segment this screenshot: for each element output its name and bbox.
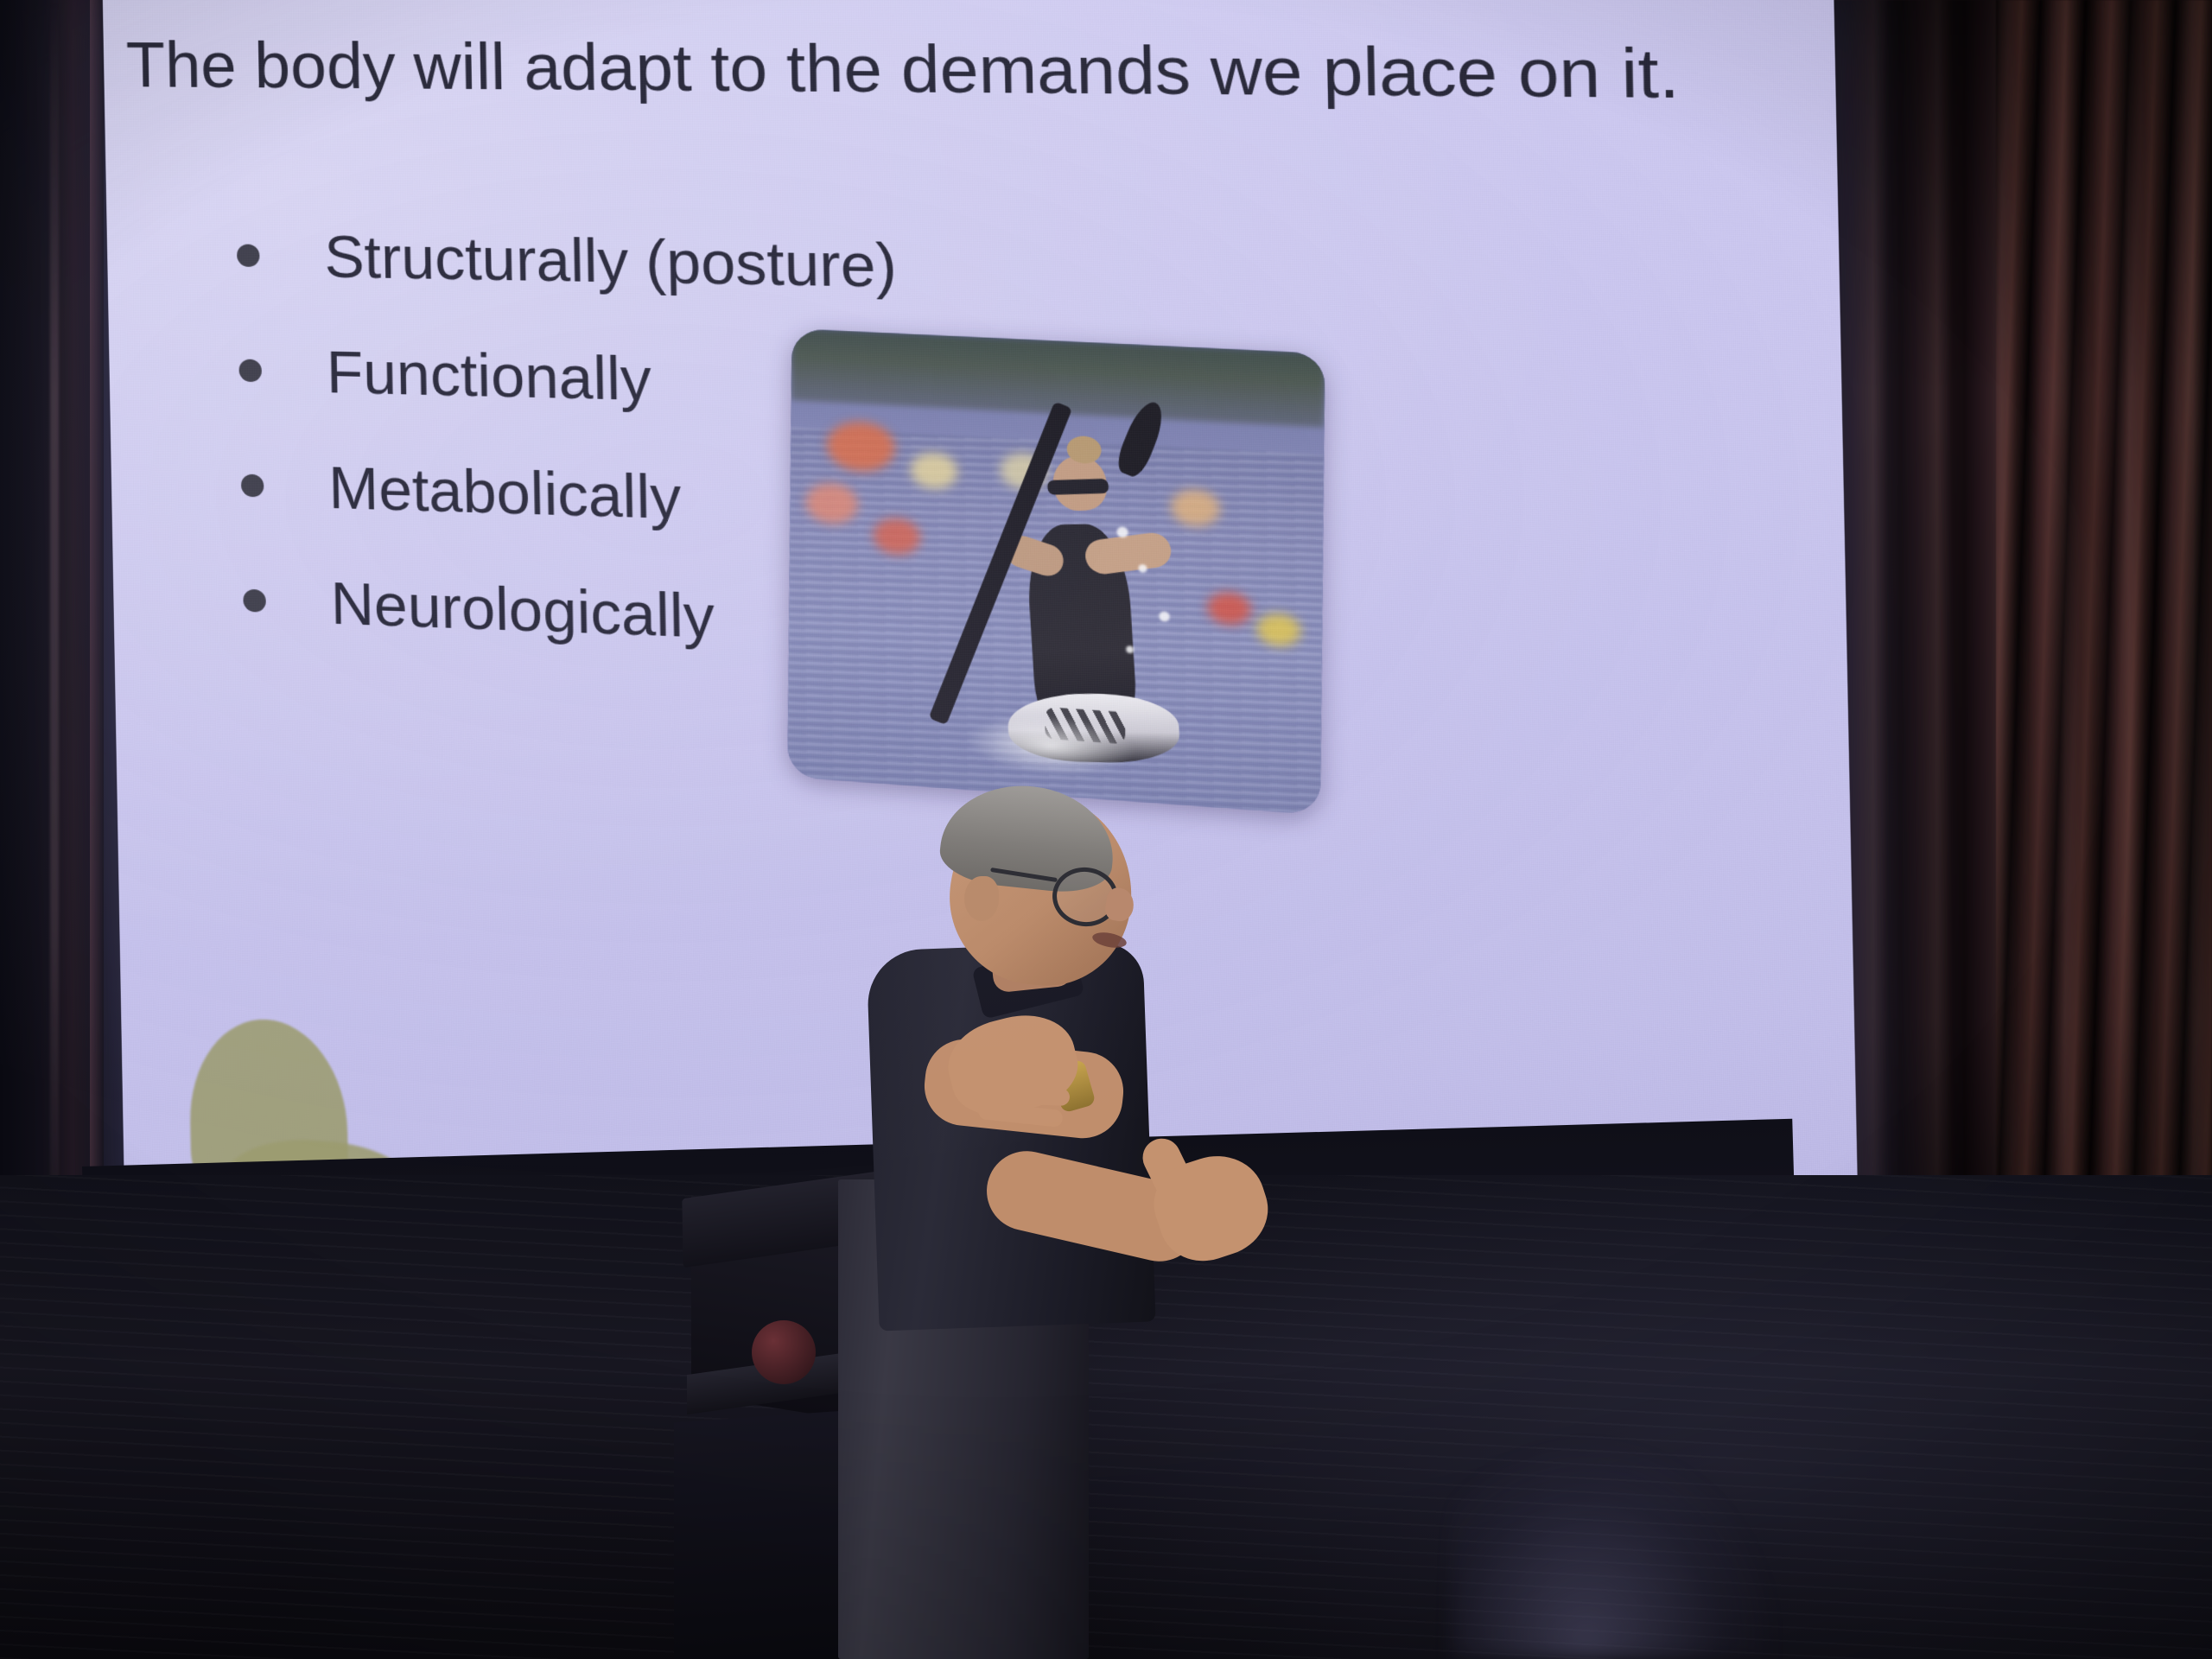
bullet-dot-icon xyxy=(243,589,266,613)
bullet-label: Metabolically xyxy=(328,454,682,533)
bullet-dot-icon xyxy=(241,474,264,498)
lectern-ball-object xyxy=(752,1320,816,1384)
slide-subtitle: The body will adapt to the demands we pl… xyxy=(125,28,1681,113)
bullet-dot-icon xyxy=(237,244,260,267)
presenter-ear xyxy=(964,876,999,921)
screenshot-root: w of Specificity The body will adapt to … xyxy=(0,0,2212,1659)
presenter-speaker xyxy=(821,786,1305,1322)
canoe-sprint-athlete-photo xyxy=(787,328,1325,815)
water-splash xyxy=(934,696,1169,794)
bullet-label: Neurologically xyxy=(330,569,715,652)
bullet-label: Functionally xyxy=(326,338,652,414)
bullet-dot-icon xyxy=(238,359,262,382)
projector-light-spill xyxy=(1452,1287,1901,1659)
list-item: Structurally (posture) xyxy=(236,221,1152,306)
water-spray-droplet xyxy=(1159,611,1169,621)
bullet-label: Structurally (posture) xyxy=(324,223,898,302)
screen-left-edge xyxy=(90,0,104,1348)
athlete-sunglasses xyxy=(1047,479,1109,495)
curtain-highlight-left xyxy=(50,0,59,1322)
water-spray-droplet xyxy=(1138,564,1147,573)
